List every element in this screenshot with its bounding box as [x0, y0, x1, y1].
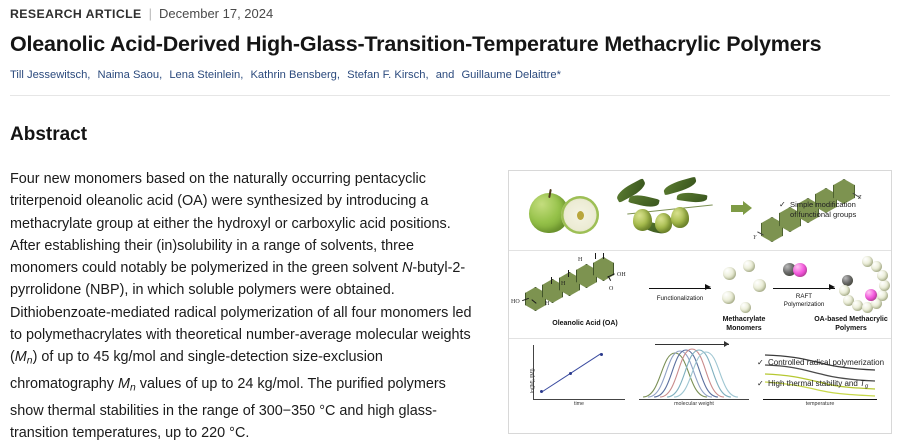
- abstract-text: Four new monomers based on the naturally…: [10, 168, 478, 445]
- olive-fruit-icon: [633, 209, 652, 231]
- arrow-label-line2: Polymerization: [784, 301, 825, 308]
- abstract-run-italic: M: [118, 376, 130, 392]
- article-header: RESEARCH ARTICLE | December 17, 2024 Ole…: [0, 0, 900, 83]
- atom-label-o: O: [609, 286, 613, 292]
- caption-oleanolic-acid: Oleanolic Acid (OA): [523, 319, 647, 328]
- abstract-run-italic: N: [402, 260, 412, 276]
- article-abstract-page: RESEARCH ARTICLE | December 17, 2024 Ole…: [0, 0, 900, 446]
- polymer-ball-icon: [862, 256, 873, 267]
- author-link[interactable]: Stefan F. Kirsch,: [347, 69, 428, 81]
- check-text-thermal-stability: High thermal stability and Tg: [768, 378, 891, 392]
- polymer-ball-icon: [879, 280, 890, 291]
- oleanolic-acid-structure-diagram: HO OH O H H H: [521, 255, 649, 317]
- article-type-label: RESEARCH ARTICLE: [10, 6, 142, 22]
- chart-kinetics: ln([M]₀/[M]) time: [523, 345, 625, 407]
- caption-line2: Polymers: [835, 325, 867, 332]
- chart1-y-axis-label: ln([M]₀/[M]): [530, 368, 536, 393]
- monomer-ball-icon: [722, 291, 735, 304]
- olive-leaf-icon: [628, 193, 660, 210]
- polymer-ball-icon: [877, 270, 888, 281]
- graphical-abstract-figure[interactable]: Y Z ✓ Simple modification of functional …: [508, 170, 892, 434]
- caption-line2: Monomers: [726, 325, 761, 332]
- functionalization-arrow-icon: [649, 281, 711, 295]
- arrow-label-functionalization: Functionalization: [645, 295, 715, 303]
- monomer-ball-icon: [743, 260, 755, 272]
- check-icon: ✓: [757, 378, 764, 389]
- atom-label-oh: OH: [617, 272, 626, 278]
- chart1-data-point: [600, 353, 603, 356]
- ga-panel-synthesis-scheme: HO OH O H H H Oleanolic Acid (OA) Functi…: [509, 251, 891, 339]
- check-text-part: High thermal stability and: [768, 379, 860, 388]
- ga-checklist-modification: ✓ Simple modification of functional grou…: [779, 200, 891, 220]
- chart1-x-axis-label: time: [533, 401, 625, 407]
- monomer-ball-icon: [723, 267, 736, 280]
- kicker-separator: |: [149, 6, 152, 22]
- atom-label-h-bottom: H: [545, 301, 549, 307]
- check-icon: ✓: [779, 200, 786, 210]
- abstract-heading: Abstract: [10, 124, 87, 146]
- monomer-ball-icon: [753, 279, 766, 292]
- header-divider: [10, 95, 890, 96]
- abstract-run: Four new monomers based on the naturally…: [10, 171, 451, 276]
- transformation-arrow-icon: [731, 201, 751, 215]
- author-link[interactable]: Till Jessewitsch,: [10, 69, 90, 81]
- ga-panel-source-to-structure: Y Z ✓ Simple modification of functional …: [509, 171, 891, 251]
- ga-panel-results-charts: ln([M]₀/[M]) time conversion: [509, 339, 891, 432]
- chain-end-pink-ball: [865, 289, 877, 301]
- olive-photo: [611, 179, 723, 243]
- olive-fruit-icon: [671, 207, 689, 228]
- author-link[interactable]: Naima Saou,: [98, 69, 163, 81]
- check-text-controlled-polymerization: Controlled radical polymerization: [768, 357, 891, 368]
- symbol-tg-subscript: g: [865, 383, 868, 389]
- corresponding-author-link[interactable]: Guillaume Delaittre*: [461, 69, 561, 81]
- page-title: Oleanolic Acid-Derived High-Glass-Transi…: [10, 31, 890, 57]
- check-text-line1: Simple modification: [790, 200, 891, 210]
- ga-checklist-results: ✓ Controlled radical polymerization ✓ Hi…: [757, 357, 891, 392]
- arrow-label-raft: RAFT Polymerization: [768, 293, 840, 309]
- chart2-conversion-arrow-icon: [655, 340, 729, 348]
- monomer-ball-icon: [740, 302, 751, 313]
- chart1-x-axis: [533, 399, 625, 400]
- caption-line1: OA-based Methacrylic: [814, 316, 888, 323]
- check-icon: ✓: [757, 357, 764, 368]
- apple-core-icon: [577, 211, 584, 220]
- kicker-row: RESEARCH ARTICLE | December 17, 2024: [10, 6, 890, 22]
- chart-sec-traces: conversion ↑ molecular weight: [635, 341, 753, 407]
- chart2-curves: [635, 341, 753, 399]
- chart1-data-point: [540, 390, 543, 393]
- polymer-ball-icon: [877, 290, 888, 301]
- arrow-label-line1: RAFT: [796, 293, 812, 300]
- caption-methacrylate-monomers: Methacrylate Monomers: [707, 315, 781, 333]
- chart2-x-axis: [639, 399, 749, 400]
- publication-date: December 17, 2024: [159, 6, 273, 22]
- author-link[interactable]: Lena Steinlein,: [169, 69, 243, 81]
- apple-photo: [527, 183, 611, 239]
- caption-line1: Methacrylate: [723, 316, 766, 323]
- raft-agent-pink-ball: [793, 263, 807, 277]
- olive-fruit-icon: [655, 213, 672, 233]
- caption-oa-polymers: OA-based Methacrylic Polymers: [809, 315, 891, 333]
- author-list: Till Jessewitsch, Naima Saou, Lena Stein…: [10, 68, 890, 83]
- chart3-x-axis-label: temperature: [763, 401, 877, 407]
- chart1-data-point: [569, 372, 572, 375]
- abstract-run-italic: M: [15, 349, 27, 365]
- structure-label-y: Y: [753, 235, 756, 241]
- atom-label-h-mid: H: [561, 281, 565, 287]
- author-conjunction: and: [436, 69, 455, 81]
- atom-label-h-top: H: [578, 257, 582, 263]
- check-text-line2: of functional groups: [790, 210, 891, 220]
- author-link[interactable]: Kathrin Bensberg,: [250, 69, 340, 81]
- olive-leaf-icon: [677, 191, 708, 204]
- chart2-x-axis-label: molecular weight: [639, 401, 749, 407]
- atom-label-ho: HO: [511, 299, 520, 305]
